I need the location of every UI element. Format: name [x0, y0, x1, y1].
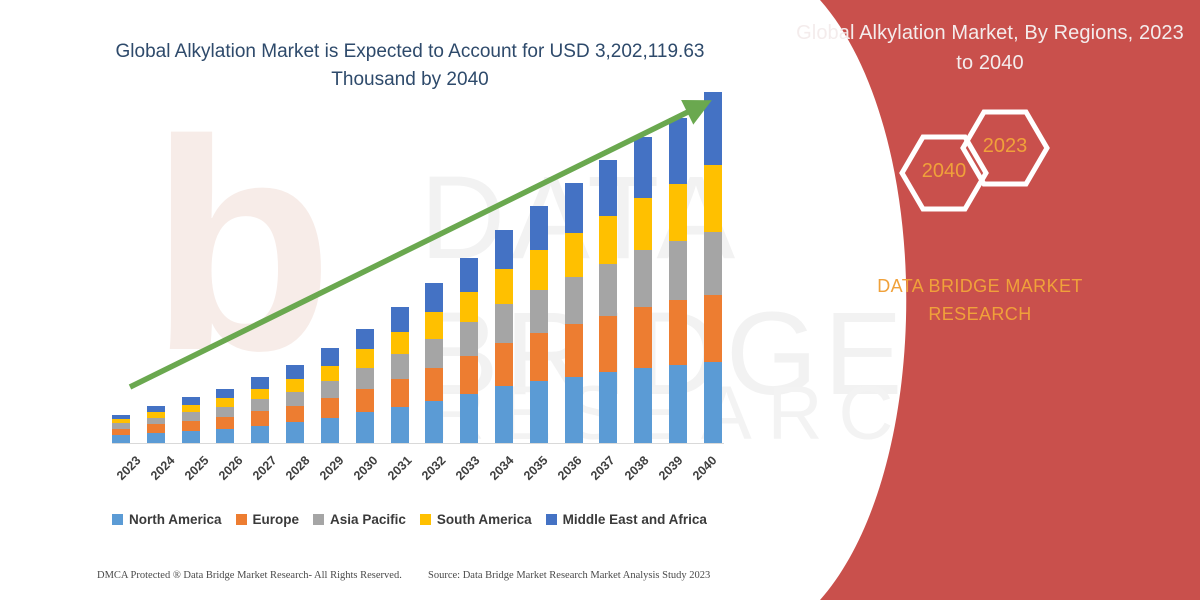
bar-segment	[634, 137, 652, 198]
bar-segment	[356, 389, 374, 413]
bar-group	[112, 96, 722, 444]
bar-segment	[704, 92, 722, 165]
legend-item[interactable]: North America	[112, 512, 222, 527]
legend-label: South America	[437, 512, 532, 527]
bar-2034	[495, 230, 513, 444]
bar-segment	[460, 356, 478, 394]
x-axis-label-2034: 2034	[487, 453, 517, 483]
x-axis-label-2024: 2024	[148, 453, 178, 483]
bar-segment	[251, 399, 269, 411]
legend-item[interactable]: Asia Pacific	[313, 512, 406, 527]
bar-segment	[391, 379, 409, 407]
x-axis-label-2032: 2032	[419, 453, 449, 483]
bar-segment	[182, 405, 200, 413]
bar-2040	[704, 92, 722, 444]
bar-2026	[216, 389, 234, 444]
legend-item[interactable]: South America	[420, 512, 532, 527]
bar-segment	[704, 295, 722, 362]
bar-segment	[216, 398, 234, 407]
bar-segment	[460, 322, 478, 356]
bar-segment	[495, 343, 513, 387]
brand-name: DATA BRIDGE MARKET RESEARCH	[780, 272, 1180, 328]
bar-segment	[704, 362, 722, 444]
legend-swatch	[236, 514, 247, 525]
legend-swatch	[313, 514, 324, 525]
bar-segment	[704, 232, 722, 295]
infographic-root: b DATA BRIDGE RESEARCH Global Alkylation…	[0, 0, 1200, 600]
bar-segment	[599, 264, 617, 316]
bar-segment	[216, 417, 234, 429]
bar-segment	[425, 339, 443, 368]
bar-segment	[669, 184, 687, 241]
bar-segment	[356, 329, 374, 350]
footer: DMCA Protected ® Data Bridge Market Rese…	[0, 568, 790, 592]
bar-segment	[391, 354, 409, 379]
bar-segment	[216, 407, 234, 417]
bar-segment	[182, 421, 200, 431]
bar-segment	[634, 250, 652, 307]
x-axis-label-2031: 2031	[385, 453, 415, 483]
bar-2032	[425, 283, 443, 444]
legend-label: Europe	[253, 512, 300, 527]
chart-legend: North AmericaEuropeAsia PacificSouth Ame…	[112, 512, 772, 527]
bar-segment	[669, 300, 687, 364]
bar-segment	[286, 406, 304, 422]
bar-segment	[565, 233, 583, 277]
bar-segment	[460, 292, 478, 322]
x-axis-label-2030: 2030	[351, 453, 381, 483]
hexagon-2023-label: 2023	[965, 135, 1045, 158]
bar-segment	[599, 160, 617, 215]
bar-segment	[704, 165, 722, 232]
bar-2036	[565, 183, 583, 444]
bar-2031	[391, 307, 409, 444]
x-axis-label-2029: 2029	[317, 453, 347, 483]
x-axis-label-2033: 2033	[453, 453, 483, 483]
bar-segment	[391, 307, 409, 332]
bar-2023	[112, 415, 130, 444]
bar-2035	[530, 206, 548, 444]
bar-segment	[182, 397, 200, 405]
bar-segment	[634, 307, 652, 368]
bar-2025	[182, 397, 200, 444]
legend-swatch	[112, 514, 123, 525]
bar-chart-plot	[112, 96, 722, 444]
bar-segment	[321, 398, 339, 418]
legend-label: Asia Pacific	[330, 512, 406, 527]
bar-segment	[425, 401, 443, 445]
x-axis-label-2039: 2039	[656, 453, 686, 483]
bar-segment	[530, 333, 548, 381]
bar-segment	[425, 368, 443, 401]
bar-2027	[251, 377, 269, 444]
legend-swatch	[420, 514, 431, 525]
bar-segment	[147, 424, 165, 433]
hexagon-group: 2040 2023	[760, 108, 1200, 238]
legend-swatch	[546, 514, 557, 525]
bar-segment	[530, 381, 548, 444]
bar-segment	[356, 349, 374, 367]
bar-segment	[286, 422, 304, 444]
bar-2038	[634, 137, 652, 444]
bar-segment	[216, 429, 234, 444]
x-axis-line	[112, 443, 724, 444]
bar-segment	[669, 365, 687, 444]
hexagon-2040-label: 2040	[904, 160, 984, 183]
x-axis-label-2028: 2028	[283, 453, 313, 483]
bar-segment	[286, 379, 304, 392]
legend-label: Middle East and Africa	[563, 512, 707, 527]
bar-2029	[321, 348, 339, 444]
bar-2028	[286, 365, 304, 444]
bar-segment	[599, 216, 617, 264]
bar-2030	[356, 329, 374, 444]
bar-segment	[425, 312, 443, 338]
x-axis-label-2040: 2040	[690, 453, 720, 483]
bar-segment	[216, 389, 234, 399]
bar-segment	[599, 372, 617, 444]
x-axis-label-2038: 2038	[622, 453, 652, 483]
x-axis-label-2023: 2023	[114, 453, 144, 483]
bar-segment	[391, 407, 409, 444]
x-axis-label-2026: 2026	[216, 453, 246, 483]
bar-2039	[669, 118, 687, 444]
bar-segment	[599, 316, 617, 373]
bar-2024	[147, 406, 165, 444]
bar-segment	[530, 290, 548, 334]
bar-2037	[599, 160, 617, 444]
x-axis-label-2037: 2037	[588, 453, 618, 483]
bar-segment	[251, 377, 269, 389]
brand-name-line1: DATA BRIDGE MARKET	[780, 272, 1180, 300]
bar-segment	[634, 368, 652, 444]
bar-segment	[356, 412, 374, 444]
x-axis-labels: 2023202420252026202720282029203020312032…	[112, 447, 722, 493]
x-axis-label-2035: 2035	[521, 453, 551, 483]
x-axis-label-2036: 2036	[555, 453, 585, 483]
bar-segment	[251, 426, 269, 444]
bar-segment	[425, 283, 443, 312]
bar-segment	[321, 348, 339, 365]
brand-name-line2: RESEARCH	[780, 300, 1180, 328]
right-red-panel: Global Alkylation Market, By Regions, 20…	[760, 0, 1200, 600]
bar-segment	[669, 241, 687, 301]
bar-2033	[460, 258, 478, 444]
footer-copyright: DMCA Protected ® Data Bridge Market Rese…	[97, 570, 402, 581]
x-axis-label-2027: 2027	[250, 453, 280, 483]
bar-segment	[182, 412, 200, 421]
bar-segment	[495, 386, 513, 444]
bar-segment	[530, 206, 548, 251]
bar-segment	[565, 277, 583, 325]
bar-segment	[321, 366, 339, 381]
bar-segment	[251, 389, 269, 400]
right-panel-title: Global Alkylation Market, By Regions, 20…	[790, 18, 1190, 78]
bar-segment	[634, 198, 652, 250]
bar-segment	[565, 183, 583, 233]
bar-segment	[286, 392, 304, 406]
bar-segment	[460, 258, 478, 292]
bar-segment	[251, 411, 269, 425]
legend-item[interactable]: Middle East and Africa	[546, 512, 707, 527]
bar-segment	[321, 418, 339, 444]
bar-segment	[460, 394, 478, 444]
bar-segment	[321, 381, 339, 398]
footer-source: Source: Data Bridge Market Research Mark…	[428, 570, 710, 581]
bar-segment	[286, 365, 304, 379]
x-axis-label-2025: 2025	[182, 453, 212, 483]
chart-title: Global Alkylation Market is Expected to …	[110, 38, 710, 94]
legend-label: North America	[129, 512, 222, 527]
bar-segment	[356, 368, 374, 389]
bar-segment	[495, 230, 513, 269]
bar-segment	[391, 332, 409, 354]
bar-segment	[669, 118, 687, 184]
bar-segment	[495, 269, 513, 304]
bar-segment	[565, 324, 583, 376]
bar-segment	[530, 250, 548, 289]
bar-segment	[565, 377, 583, 444]
bar-segment	[495, 304, 513, 343]
legend-item[interactable]: Europe	[236, 512, 300, 527]
